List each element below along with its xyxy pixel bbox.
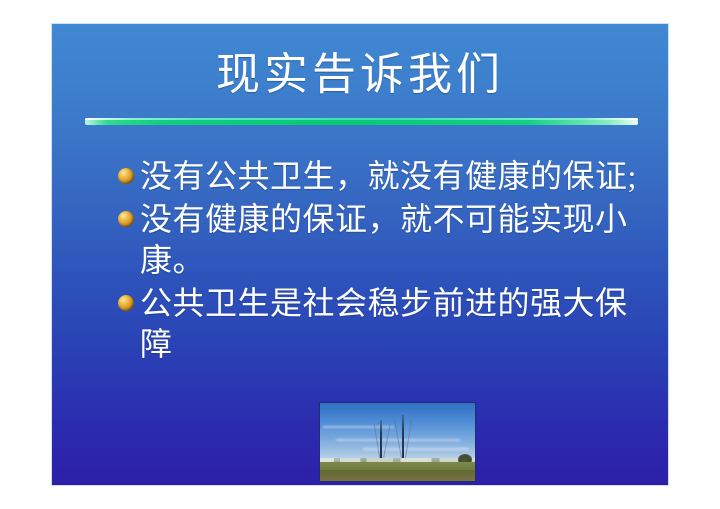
radio-towers-field-photo: [319, 402, 476, 482]
slide-bullet-list: 没有公共卫生，就没有健康的保证; 没有健康的保证，就不可能实现小康。 公共卫生是…: [112, 156, 652, 367]
title-divider-rule: [85, 118, 638, 125]
photo-radio-mast: [402, 415, 404, 463]
photo-field-near: [320, 470, 475, 481]
screenshot-canvas: 现实告诉我们 没有公共卫生，就没有健康的保证; 没有健康的保证，就不可能实现小康…: [0, 0, 720, 509]
sphere-bullet-icon: [118, 168, 134, 184]
divider-body: [85, 120, 638, 125]
photo-cloud-streak: [363, 448, 468, 450]
bullet-item: 没有健康的保证，就不可能实现小康。: [112, 199, 652, 281]
bullet-item-text: 没有健康的保证，就不可能实现小康。: [140, 199, 652, 281]
bullet-item-text: 公共卫生是社会稳步前进的强大保障: [140, 283, 652, 365]
bullet-item-text: 没有公共卫生，就没有健康的保证;: [140, 156, 652, 197]
photo-cloud-streak: [323, 426, 394, 428]
slide-title: 现实告诉我们: [52, 47, 668, 103]
photo-sky: [320, 403, 475, 461]
bullet-item: 没有公共卫生，就没有健康的保证;: [112, 156, 652, 197]
bullet-item: 公共卫生是社会稳步前进的强大保障: [112, 283, 652, 365]
sphere-bullet-icon: [118, 211, 134, 227]
sphere-bullet-icon: [118, 295, 134, 311]
presentation-slide: 现实告诉我们 没有公共卫生，就没有健康的保证; 没有健康的保证，就不可能实现小康…: [52, 24, 668, 485]
